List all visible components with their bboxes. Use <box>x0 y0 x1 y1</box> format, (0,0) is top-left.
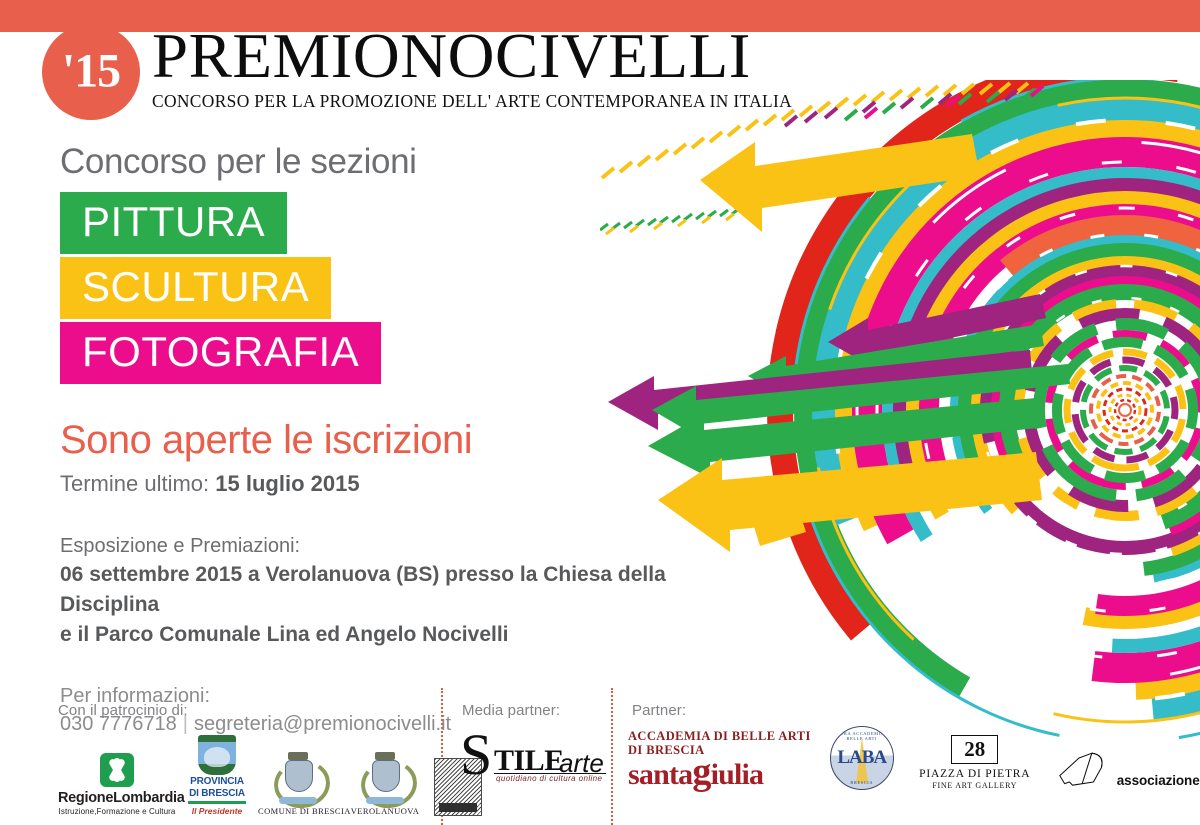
provincia-line-2: DI BRESCIA <box>188 789 246 799</box>
laba-arc-top: LIBERA ACCADEMIA DI BELLE ARTI <box>831 731 893 741</box>
logo-associazione-artisti-bresciani: associazione artisti bresciani <box>1055 750 1200 790</box>
logo-stile-arte: S TILE arte quotidiano di cultura online <box>460 730 610 784</box>
santagiulia-g: g <box>692 751 710 793</box>
santagiulia-santa: santa <box>628 758 692 791</box>
logo-piazza-di-pietra: 28 PIAZZA DI PIETRA FINE ART GALLERY <box>913 735 1037 790</box>
section-chip-row: FOTOGRAFIA <box>60 322 700 387</box>
santagiulia-line-1: ACCADEMIA DI BELLE ARTI <box>628 729 811 743</box>
footer: Con il patrocinio di: RegioneLombardia I… <box>0 688 1200 825</box>
masthead: PREMIONOCIVELLI CONCORSO PER LA PROMOZIO… <box>152 22 795 111</box>
piazza-di-pietra-line-1: PIAZZA DI PIETRA <box>913 768 1037 780</box>
piazza-di-pietra-line-2: FINE ART GALLERY <box>913 781 1037 790</box>
exhibition-line-1: 06 settembre 2015 a Verolanuova (BS) pre… <box>60 560 700 620</box>
logo-comune-di-brescia: COMUNE DI BRESCIA <box>258 752 338 816</box>
santagiulia-line-2: DI BRESCIA <box>628 743 811 757</box>
logo-accademia-santa-giulia: ACCADEMIA DI BELLE ARTI DI BRESCIA santa… <box>628 729 811 790</box>
logo-verolanuova: VEROLANUOVA <box>350 752 420 816</box>
aab-fan-icon <box>1055 750 1111 790</box>
regione-lombardia-rose-icon <box>100 753 134 787</box>
section-chip-fotografia: FOTOGRAFIA <box>60 322 381 384</box>
logo-provincia-di-brescia: PROVINCIA DI BRESCIA Il Presidente <box>188 735 246 816</box>
patronage-label: Con il patrocinio di: <box>58 702 188 719</box>
section-chip-list: PITTURA SCULTURA FOTOGRAFIA <box>60 192 700 387</box>
lede-text: Concorso per le sezioni <box>60 142 700 182</box>
page-subtitle: CONCORSO PER LA PROMOZIONE DELL' ARTE CO… <box>152 92 792 111</box>
provincia-line-1: PROVINCIA <box>188 777 246 787</box>
section-chip-row: SCULTURA <box>60 257 700 322</box>
logo-regione-lombardia: RegioneLombardia Istruzione,Formazione e… <box>58 753 176 816</box>
comune-brescia-crest-icon <box>271 752 325 804</box>
stile-arte-s: S <box>460 726 492 784</box>
laba-seal-icon: LIBERA ACCADEMIA DI BELLE ARTI LABA BRES… <box>830 726 894 790</box>
poster-canvas: '15 PREMIONOCIVELLI CONCORSO PER LA PROM… <box>0 0 1200 825</box>
logo-laba: LIBERA ACCADEMIA DI BELLE ARTI LABA BRES… <box>829 726 895 790</box>
deadline-label: Termine ultimo: <box>60 471 209 496</box>
santagiulia-wordmark: santagiulia <box>628 757 811 790</box>
partner-logo-strip: ACCADEMIA DI BELLE ARTI DI BRESCIA santa… <box>628 726 1200 790</box>
piazza-di-pietra-number: 28 <box>951 735 998 764</box>
laba-arc-bottom: BRESCIA <box>831 780 893 785</box>
provincia-rule <box>188 801 246 804</box>
media-partner-logo-strip: S TILE arte quotidiano di cultura online <box>460 730 610 784</box>
verolanuova-crest-icon <box>358 752 412 804</box>
exhibition-block: Esposizione e Premiazioni: 06 settembre … <box>60 532 700 650</box>
exhibition-line-2: e il Parco Comunale Lina ed Angelo Nociv… <box>60 620 700 650</box>
page-title: PREMIONOCIVELLI <box>152 22 815 90</box>
regione-lombardia-name: RegioneLombardia <box>58 790 176 806</box>
section-chip-pittura: PITTURA <box>60 192 287 254</box>
main-content: Concorso per le sezioni PITTURA SCULTURA… <box>60 142 700 738</box>
santagiulia-iulia: iulia <box>711 758 764 791</box>
section-chip-scultura: SCULTURA <box>60 257 331 319</box>
fondazione-caption: FONDAZIONE UGO DA COMO <box>435 803 481 812</box>
regione-lombardia-tagline: Istruzione,Formazione e Cultura <box>58 807 176 816</box>
media-partner-label: Media partner: <box>462 702 560 719</box>
provincia-shield-icon <box>198 735 236 775</box>
deadline-value: 15 luglio 2015 <box>215 471 359 496</box>
year-badge-label: '15 <box>42 43 140 98</box>
deadline-line: Termine ultimo: 15 luglio 2015 <box>60 470 700 498</box>
headline-text: Sono aperte le iscrizioni <box>60 417 700 463</box>
provincia-president-label: Il Presidente <box>188 806 246 816</box>
stile-arte-tile: TILE <box>494 746 564 776</box>
partner-label: Partner: <box>632 702 686 719</box>
aab-label: associazione artisti bresciani <box>1117 773 1200 790</box>
footer-divider-2 <box>611 688 613 825</box>
laba-wordmark: LABA <box>831 747 893 769</box>
stile-arte-tagline: quotidiano di cultura online <box>496 774 602 783</box>
patronage-logo-strip: RegioneLombardia Istruzione,Formazione e… <box>58 724 484 816</box>
exhibition-label: Esposizione e Premiazioni: <box>60 532 700 560</box>
year-badge: '15 <box>42 24 140 120</box>
section-chip-row: PITTURA <box>60 192 700 257</box>
